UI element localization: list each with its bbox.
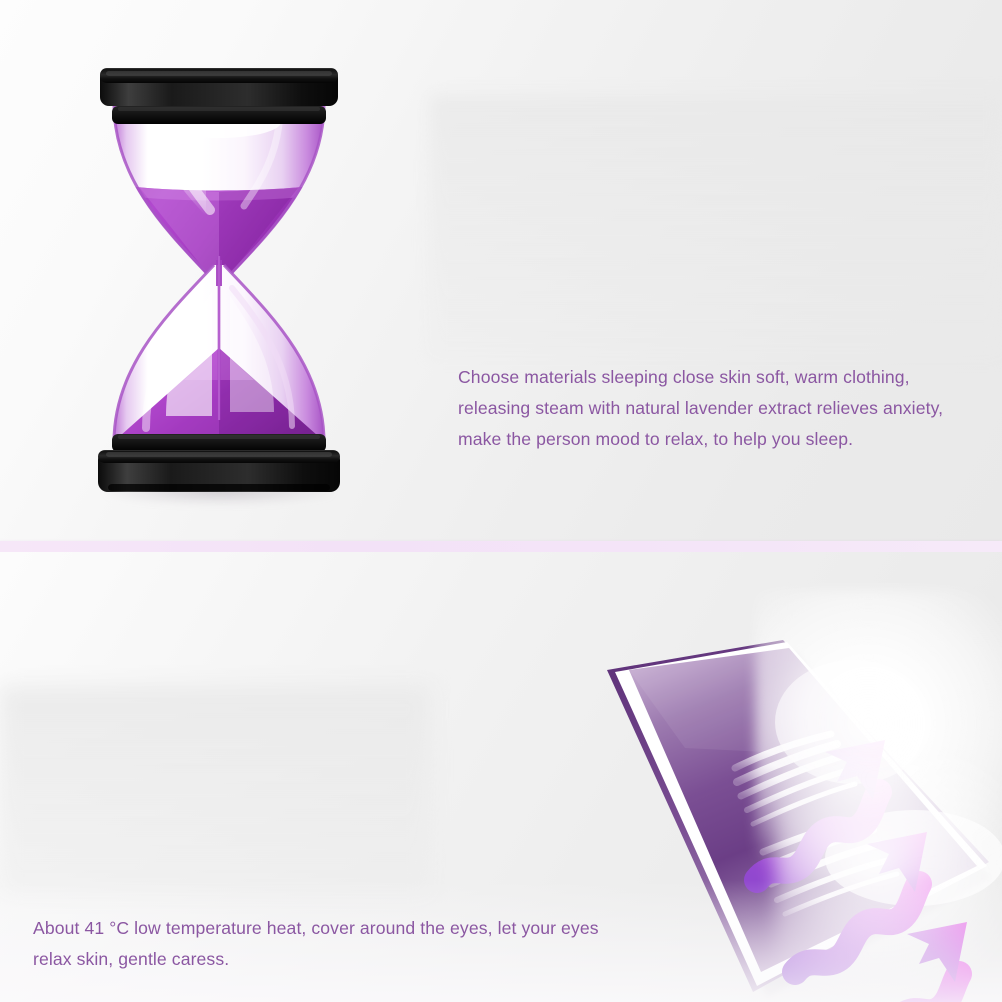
bottom-background-soft-panel [0, 686, 430, 896]
product-feature-panel: Choose materials sleeping close skin sof… [0, 0, 1002, 1002]
top-background-soft-panel [430, 95, 1002, 355]
hourglass-top-cap [100, 68, 338, 124]
hourglass-illustration [88, 60, 350, 500]
hourglass-graphic [88, 60, 350, 500]
top-section-caption: Choose materials sleeping close skin sof… [458, 362, 983, 455]
bottom-section-caption: About 41 °C low temperature heat, cover … [33, 913, 613, 975]
hourglass-base [98, 434, 340, 492]
